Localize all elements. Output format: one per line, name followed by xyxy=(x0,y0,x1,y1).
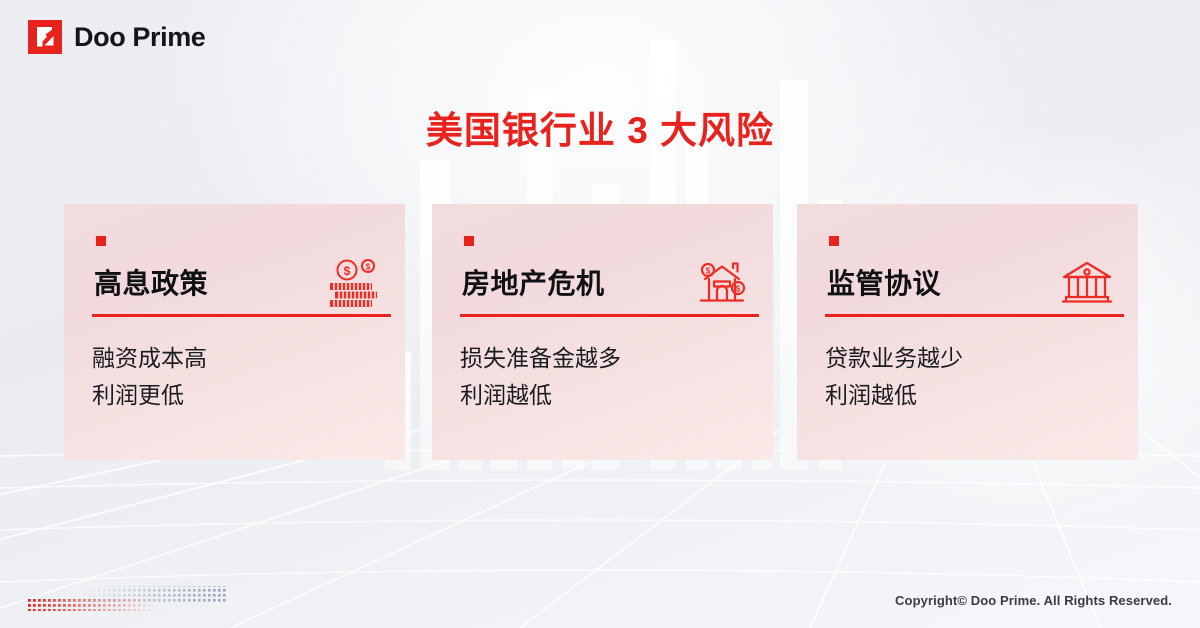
red-square-marker-icon xyxy=(464,236,474,246)
slide-canvas: Doo Prime 美国银行业 3 大风险 高息政策 $ $ xyxy=(0,0,1200,628)
svg-text:$: $ xyxy=(736,285,741,294)
card-title: 房地产危机 xyxy=(462,262,605,302)
red-square-marker-icon xyxy=(96,236,106,246)
svg-text:$: $ xyxy=(366,263,371,272)
card-body: 贷款业务越少 利润越低 xyxy=(825,340,1118,415)
risk-card-high-interest[interactable]: 高息政策 $ $ xyxy=(64,204,405,460)
copyright-text: Copyright© Doo Prime. All Rights Reserve… xyxy=(895,593,1172,608)
card-line: 利润越低 xyxy=(460,377,753,414)
bank-building-icon xyxy=(1058,257,1116,307)
risk-card-real-estate[interactable]: 房地产危机 $ $ xyxy=(432,204,773,460)
card-line: 贷款业务越少 xyxy=(825,340,1118,377)
halftone-dots-decoration xyxy=(28,584,228,614)
card-header: 高息政策 $ $ xyxy=(94,256,383,308)
house-with-coins-icon: $ $ xyxy=(693,257,751,307)
card-line: 融资成本高 xyxy=(92,340,385,377)
card-line: 利润更低 xyxy=(92,377,385,414)
risk-card-list: 高息政策 $ $ xyxy=(0,0,1200,628)
svg-text:$: $ xyxy=(706,267,711,276)
stacked-coins-icon: $ $ xyxy=(325,257,383,307)
svg-text:$: $ xyxy=(344,264,351,278)
red-square-marker-icon xyxy=(829,236,839,246)
card-divider xyxy=(825,314,1124,317)
card-header: 房地产危机 $ $ xyxy=(462,256,751,308)
card-line: 利润越低 xyxy=(825,377,1118,414)
card-title: 监管协议 xyxy=(827,262,941,302)
card-header: 监管协议 xyxy=(827,256,1116,308)
card-body: 融资成本高 利润更低 xyxy=(92,340,385,415)
risk-card-regulation[interactable]: 监管协议 贷款业务越少 利润越低 xyxy=(797,204,1138,460)
card-divider xyxy=(92,314,391,317)
card-line: 损失准备金越多 xyxy=(460,340,753,377)
card-divider xyxy=(460,314,759,317)
card-body: 损失准备金越多 利润越低 xyxy=(460,340,753,415)
card-title: 高息政策 xyxy=(94,262,208,302)
